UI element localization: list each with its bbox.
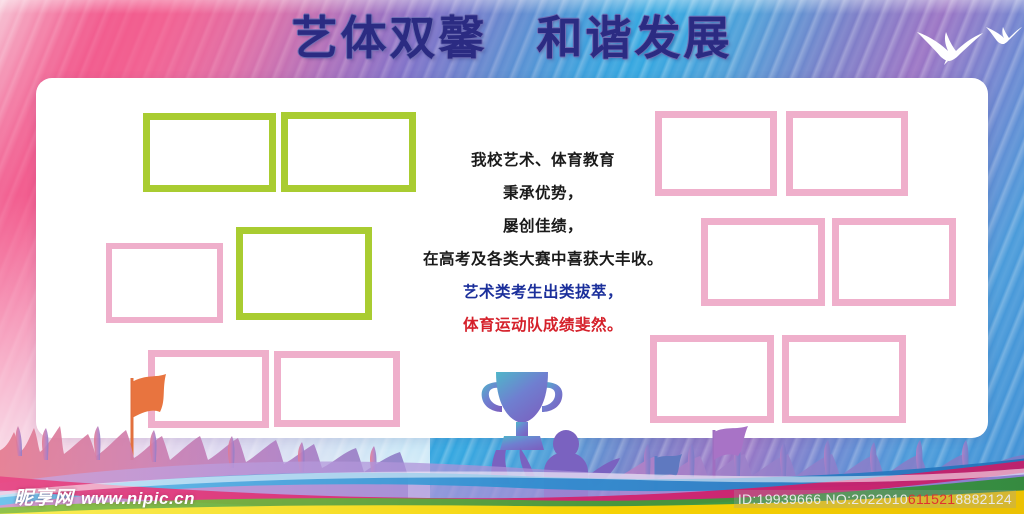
photo-frame-pink-right-4[interactable]: [832, 218, 956, 306]
body-line-3: 屡创佳绩，: [388, 216, 698, 237]
body-line-6: 体育运动队成绩斐然。: [388, 315, 698, 336]
photo-frame-pink-right-2[interactable]: [786, 111, 908, 196]
photo-frame-pink-left-1[interactable]: [106, 243, 223, 323]
photo-frame-green-1[interactable]: [143, 113, 276, 192]
watermark: 昵享网 www.nipic.cn: [14, 483, 195, 510]
watermark-url: www.nipic.cn: [81, 489, 195, 509]
no-part-1: 2022010: [851, 491, 908, 507]
body-line-5: 艺术类考生出类拔萃，: [388, 282, 698, 303]
no-part-2: 8882124: [955, 491, 1012, 507]
photo-frame-green-3[interactable]: [236, 227, 372, 320]
watermark-logo: 昵享网: [14, 483, 74, 510]
poster-title: 艺体双馨 和谐发展: [0, 8, 1024, 68]
no-prefix: NO:: [821, 491, 851, 507]
photo-frame-pink-right-3[interactable]: [701, 218, 825, 306]
id-value: 19939666: [757, 491, 822, 507]
body-line-2: 秉承优势，: [388, 183, 698, 204]
poster-canvas: 艺体双馨 和谐发展 我校艺术、体育教育 秉承优势， 屡创佳绩， 在高考及各类大赛…: [0, 0, 1024, 514]
body-text-block: 我校艺术、体育教育 秉承优势， 屡创佳绩， 在高考及各类大赛中喜获大丰收。 艺术…: [388, 150, 698, 348]
id-prefix: ID:: [738, 491, 757, 507]
body-line-1: 我校艺术、体育教育: [388, 150, 698, 171]
image-id-label: ID:19939666 NO:20220106115218882124: [734, 490, 1016, 508]
no-part-highlight: 611521: [908, 491, 955, 507]
body-line-4: 在高考及各类大赛中喜获大丰收。: [388, 249, 698, 270]
